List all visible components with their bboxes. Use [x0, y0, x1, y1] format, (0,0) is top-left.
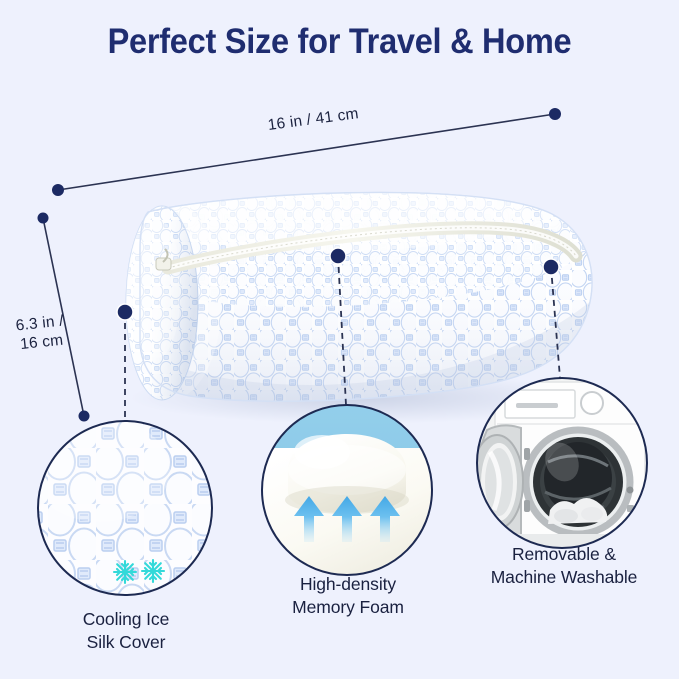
callout-dot-washable [543, 259, 559, 275]
callout-caption-cooling-line2: Silk Cover [35, 631, 217, 654]
callout-high-density-memory-foam [262, 405, 432, 578]
callout-cooling-ice-silk-cover [30, 413, 225, 608]
callout-caption-foam-line1: High-density [255, 573, 441, 596]
pillow-end-cap [126, 206, 198, 400]
callout-caption-foam-line2: Memory Foam [255, 596, 441, 619]
snowflake-icon [142, 560, 164, 582]
snowflake-icon [114, 561, 136, 583]
infographic-canvas: Perfect Size for Travel & Home [0, 0, 679, 679]
callout-caption-cooling: Cooling Ice Silk Cover [35, 608, 217, 654]
callout-caption-washable: Removable & Machine Washable [462, 543, 666, 589]
dimension-dot-length-left [52, 184, 64, 196]
dimension-dot-length-right [549, 108, 561, 120]
callout-dot-foam [330, 248, 346, 264]
callout-caption-washable-line1: Removable & [462, 543, 666, 566]
callout-dot-cooling [117, 304, 133, 320]
callout-caption-cooling-line1: Cooling Ice [35, 608, 217, 631]
callout-caption-washable-line2: Machine Washable [462, 566, 666, 589]
dimension-dot-height-bottom [79, 411, 90, 422]
callout-caption-foam: High-density Memory Foam [255, 573, 441, 619]
dimension-dot-height-top [38, 213, 49, 224]
dimension-label-height: 6.3 in / 16 cm [0, 310, 82, 357]
